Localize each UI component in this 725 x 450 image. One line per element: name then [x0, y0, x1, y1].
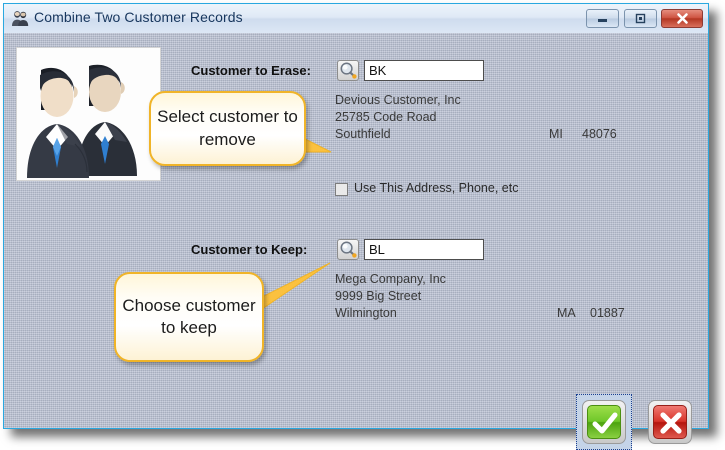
- erase-company: Devious Customer, Inc: [335, 93, 461, 107]
- keep-company: Mega Company, Inc: [335, 272, 446, 286]
- x-mark-icon: [653, 405, 687, 439]
- erase-city: Southfield: [335, 127, 391, 141]
- use-this-address-label: Use This Address, Phone, etc: [354, 181, 518, 195]
- use-this-address-checkbox[interactable]: [335, 183, 348, 196]
- erase-lookup-button[interactable]: [337, 60, 359, 81]
- two-businessmen-avatar: [17, 48, 160, 180]
- two-people-icon: [11, 10, 29, 27]
- keep-zip: 01887: [590, 306, 625, 320]
- customer-to-erase-label: Customer to Erase:: [191, 63, 311, 78]
- ok-button[interactable]: [582, 400, 626, 444]
- form-client-area: Customer to Erase: BK Devious Customer, …: [4, 33, 708, 428]
- magnifier-icon: [338, 61, 358, 80]
- magnifier-icon: [338, 240, 358, 259]
- checkmark-icon: [587, 405, 621, 439]
- keep-code-input[interactable]: BL: [364, 239, 484, 260]
- callout-text: Choose customer to keep: [116, 295, 262, 340]
- window-title: Combine Two Customer Records: [34, 9, 243, 25]
- maximize-button[interactable]: [624, 9, 657, 28]
- keep-street: 9999 Big Street: [335, 289, 421, 303]
- keep-city: Wilmington: [335, 306, 397, 320]
- callout-select-customer-to-remove: Select customer to remove: [149, 91, 306, 166]
- customer-to-keep-label: Customer to Keep:: [191, 242, 307, 257]
- erase-code-input[interactable]: BK: [364, 60, 484, 81]
- minimize-button[interactable]: [586, 9, 619, 28]
- restore-icon: [625, 10, 656, 27]
- close-button[interactable]: [661, 9, 703, 28]
- combine-records-window: Combine Two Customer Records: [3, 3, 709, 429]
- cancel-button[interactable]: [648, 400, 692, 444]
- minimize-icon: [587, 10, 618, 27]
- callout-text: Select customer to remove: [151, 106, 304, 151]
- erase-state: MI: [549, 127, 563, 141]
- erase-street: 25785 Code Road: [335, 110, 436, 124]
- erase-zip: 48076: [582, 127, 617, 141]
- close-icon: [662, 10, 702, 27]
- callout-choose-customer-to-keep: Choose customer to keep: [114, 272, 264, 362]
- keep-lookup-button[interactable]: [337, 239, 359, 260]
- title-bar: Combine Two Customer Records: [4, 4, 708, 34]
- keep-state: MA: [557, 306, 576, 320]
- avatar: [16, 47, 161, 181]
